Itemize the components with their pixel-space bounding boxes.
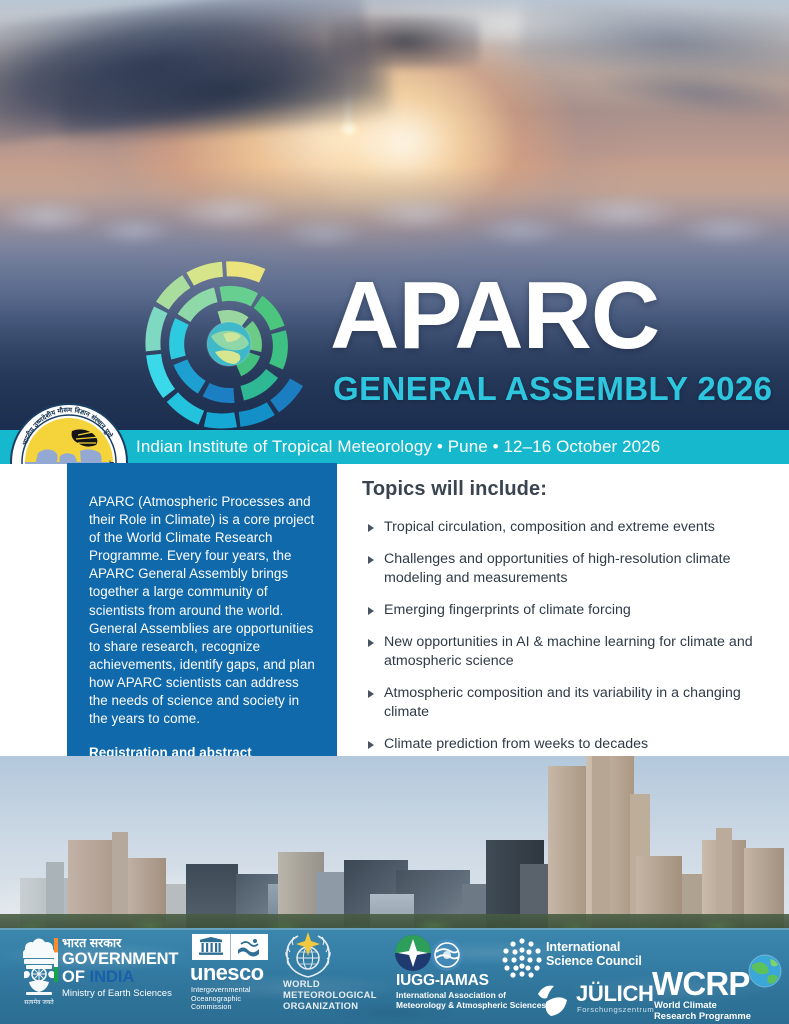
goi-ministry-label: Ministry of Earth Sciences xyxy=(62,988,202,1000)
wmo-emblem-icon xyxy=(280,932,336,980)
iugg-iamas-sublabel: International Association of Meteorology… xyxy=(396,990,546,1010)
list-item: Climate prediction from weeks to decades xyxy=(362,735,776,754)
unesco-ioc-sublabel: Intergovernmental Oceanographic Commissi… xyxy=(191,986,251,1012)
unesco-emblem-icon xyxy=(192,934,268,960)
bullet-triangle-icon xyxy=(368,741,374,749)
description-body: APARC (Atmospheric Processes and their R… xyxy=(89,493,315,728)
wcrp-sub-line1: World Climate xyxy=(654,999,751,1010)
topics-heading: Topics will include: xyxy=(362,476,776,502)
poster-subtitle: GENERAL ASSEMBLY 2026 xyxy=(333,371,772,407)
unesco-wordmark: unesco xyxy=(190,961,263,984)
isc-line2: Science Council xyxy=(546,954,642,968)
iamas-emblem-icon xyxy=(430,938,464,972)
description-box: APARC (Atmospheric Processes and their R… xyxy=(67,463,337,783)
dark-cloud-center xyxy=(330,16,480,68)
juelich-sublabel: Forschungszentrum xyxy=(577,1005,654,1014)
iugg-sub-line1: International Association of xyxy=(396,990,546,1000)
ioc-wave-icon xyxy=(231,934,269,960)
iugg-iamas-wordmark: IUGG-IAMAS xyxy=(396,972,489,989)
goi-of-india-label: OF INDIA xyxy=(62,968,202,986)
tricolour-bar-icon xyxy=(54,938,58,982)
bullet-triangle-icon xyxy=(368,556,374,564)
unesco-sub-line3: Commission xyxy=(191,1003,251,1012)
isc-dots-icon xyxy=(500,936,544,980)
topics-list: Tropical circulation, composition and ex… xyxy=(362,518,776,786)
wcrp-sub-line2: Research Programme xyxy=(654,1010,751,1021)
isc-line1: International xyxy=(546,940,642,954)
wmo-line2: METEOROLOGICAL xyxy=(283,989,377,1000)
iugg-emblem-icon xyxy=(394,934,432,972)
list-item: Atmospheric composition and its variabil… xyxy=(362,684,776,722)
wmo-wordmark: WORLD METEOROLOGICAL ORGANIZATION xyxy=(283,978,377,1012)
topic-label: Tropical circulation, composition and ex… xyxy=(384,519,715,535)
bullet-triangle-icon xyxy=(368,690,374,698)
wcrp-sublabel: World Climate Research Programme xyxy=(654,999,751,1021)
goi-of-label: OF xyxy=(62,968,90,986)
topic-label: New opportunities in AI & machine learni… xyxy=(384,634,753,669)
poster-root: APARC GENERAL ASSEMBLY 2026 Indian Insti… xyxy=(0,0,789,1024)
juelich-comma-icon xyxy=(534,980,574,1020)
bullet-triangle-icon xyxy=(368,524,374,532)
list-item: New opportunities in AI & machine learni… xyxy=(362,633,776,671)
svg-text:सत्यमेव जयते: सत्यमेव जयते xyxy=(24,998,54,1006)
goi-hindi-label: भारत सरकार xyxy=(62,936,202,950)
topic-label: Climate prediction from weeks to decades xyxy=(384,736,648,752)
international-science-council-wordmark: International Science Council xyxy=(546,940,642,968)
wmo-line3: ORGANIZATION xyxy=(283,1000,377,1011)
bullet-triangle-icon xyxy=(368,639,374,647)
iugg-sub-line2: Meteorology & Atmospheric Sciences xyxy=(396,1000,546,1010)
sponsor-footer: सत्यमेव जयते भारत सरकार GOVERNMENT OF IN… xyxy=(0,928,789,1024)
building xyxy=(592,756,610,936)
sun-disc xyxy=(339,122,359,136)
unesco-temple-icon xyxy=(192,934,230,960)
topics-panel: Topics will include: Tropical circulatio… xyxy=(362,476,776,799)
list-item: Tropical circulation, composition and ex… xyxy=(362,518,776,537)
juelich-wordmark: JÜLICH xyxy=(576,982,654,1006)
wmo-line1: WORLD xyxy=(283,978,377,989)
venue-text: Indian Institute of Tropical Meteorology… xyxy=(136,435,660,459)
topic-label: Challenges and opportunities of high-res… xyxy=(384,551,731,586)
goi-india-label: INDIA xyxy=(90,968,135,986)
topic-label: Atmospheric composition and its variabil… xyxy=(384,685,741,720)
page-title: APARC xyxy=(330,268,659,364)
bullet-triangle-icon xyxy=(368,607,374,615)
goi-government-label: GOVERNMENT xyxy=(62,950,202,968)
aparc-logo-icon xyxy=(137,252,321,436)
wcrp-globe-icon xyxy=(748,954,782,988)
list-item: Emerging fingerprints of climate forcing xyxy=(362,601,776,620)
wcrp-wordmark: WCRP xyxy=(652,966,750,1001)
footer-divider xyxy=(0,928,789,930)
government-of-india-logo: भारत सरकार GOVERNMENT OF INDIA Ministry … xyxy=(62,936,202,1000)
list-item: Challenges and opportunities of high-res… xyxy=(362,550,776,588)
topic-label: Emerging fingerprints of climate forcing xyxy=(384,602,631,618)
